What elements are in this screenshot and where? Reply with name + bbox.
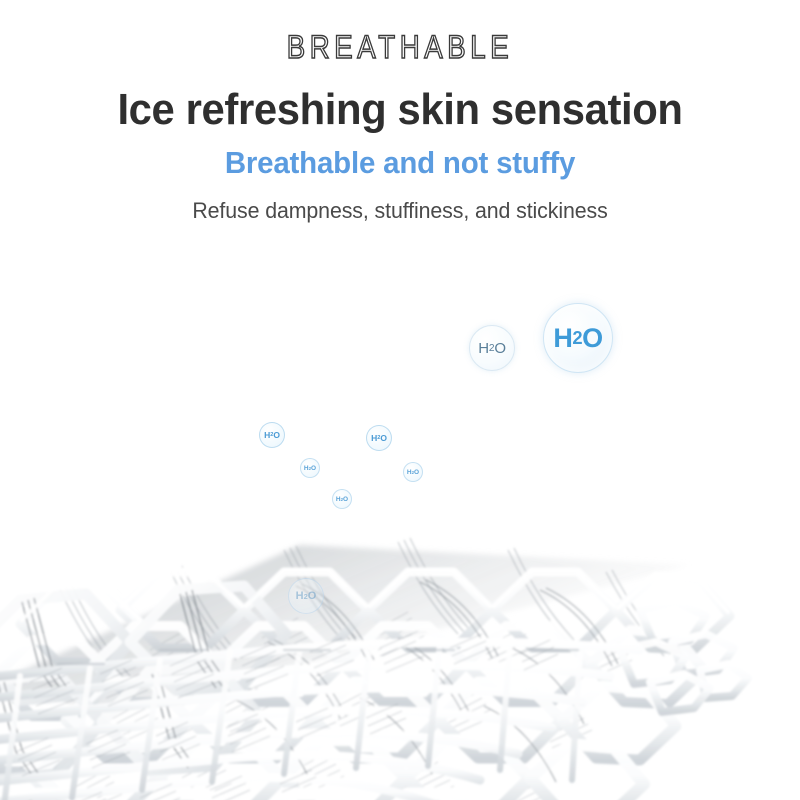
h2o-bubble-small-3: H2O xyxy=(300,458,320,478)
h2o-bubble-small-5: H2O xyxy=(332,489,352,509)
h2o-bubble-large: H2O xyxy=(543,303,613,373)
h2o-label-o: O xyxy=(380,433,387,443)
h2o-bubble-small-4: H2O xyxy=(403,462,423,482)
h2o-label-h: H xyxy=(296,590,304,602)
h2o-label-2: 2 xyxy=(572,327,582,349)
h2o-bubble-small-2: H2O xyxy=(366,425,392,451)
page-title: Ice refreshing skin sensation xyxy=(20,84,780,136)
promo-banner: BREATHABLE Ice refreshing skin sensation… xyxy=(0,0,800,800)
h2o-label-o: O xyxy=(311,465,316,472)
product-image xyxy=(0,250,800,800)
h2o-label-h: H xyxy=(478,340,489,357)
h2o-bubble-small-1: H2O xyxy=(259,422,285,448)
h2o-label-o: O xyxy=(308,590,317,602)
page-subtitle: Breathable and not stuffy xyxy=(20,144,780,182)
eyebrow-label: BREATHABLE xyxy=(32,30,768,67)
h2o-label-o: O xyxy=(273,430,280,440)
h2o-label-o: O xyxy=(582,323,603,354)
h2o-label-h: H xyxy=(553,323,572,354)
h2o-label-o: O xyxy=(414,469,419,476)
h2o-bubble-medium: H2O xyxy=(469,325,515,371)
page-tagline: Refuse dampness, stuffiness, and stickin… xyxy=(12,197,788,225)
h2o-label-o: O xyxy=(494,340,505,357)
h2o-bubble-ghost: H2O xyxy=(288,578,324,614)
h2o-label-o: O xyxy=(343,496,348,503)
